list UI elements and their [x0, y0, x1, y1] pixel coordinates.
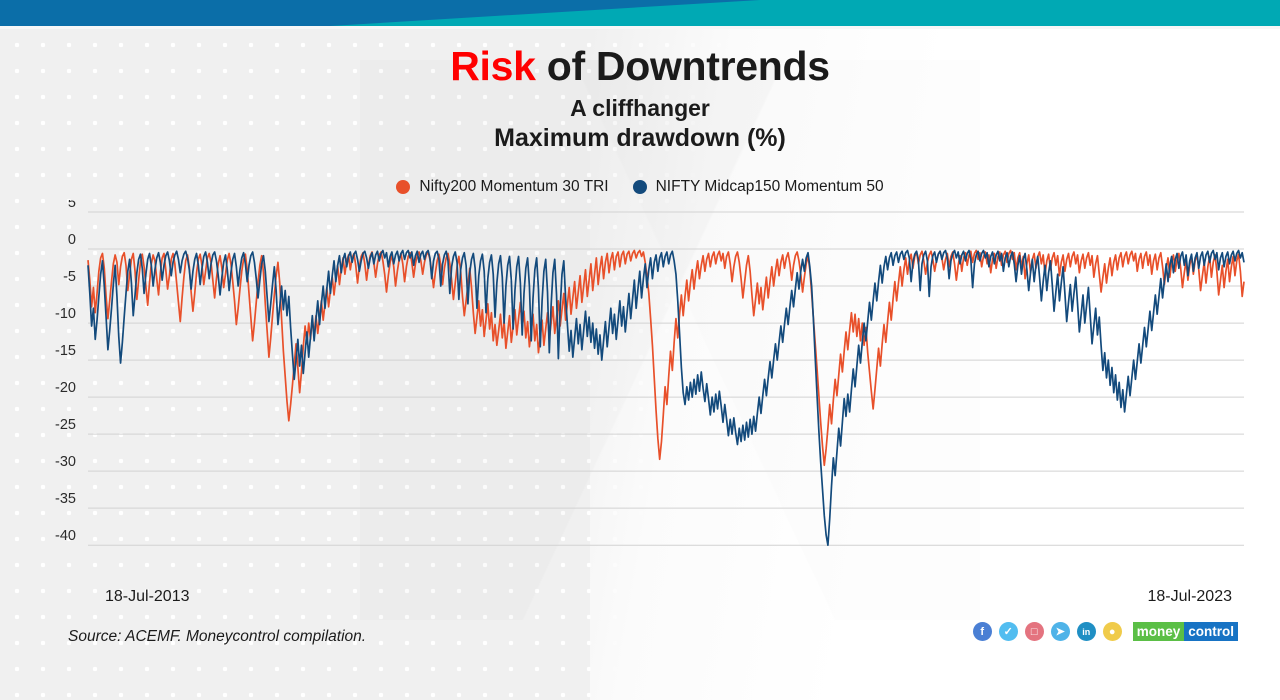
y-axis-tick-label: 5 [68, 200, 76, 211]
x-axis-end-label: 18-Jul-2023 [1148, 588, 1233, 606]
y-axis-tick-label: -25 [55, 417, 76, 433]
chart-legend: Nifty200 Momentum 30 TRI NIFTY Midcap150… [0, 178, 1280, 196]
page-subtitle: A cliffhanger [0, 95, 1280, 122]
chart-x-axis-labels: 18-Jul-2013 18-Jul-2023 [0, 588, 1280, 612]
heading-block: Risk of Downtrends A cliffhanger Maximum… [0, 44, 1280, 154]
y-axis-tick-label: -10 [55, 306, 76, 322]
y-axis-tick-label: -20 [55, 380, 76, 396]
legend-label-blue: NIFTY Midcap150 Momentum 50 [656, 178, 884, 196]
moneycontrol-logo[interactable]: money control [1133, 622, 1238, 641]
chart-y-axis-labels: 50-5-10-15-20-25-30-35-40 [55, 200, 76, 544]
chart-axis-title: Maximum drawdown (%) [0, 124, 1280, 154]
banner-navy-shape [0, 0, 760, 26]
banner-bottom-line [0, 26, 1280, 29]
y-axis-tick-label: -40 [55, 528, 76, 544]
series-line-orange [88, 251, 1244, 466]
legend-item-orange[interactable]: Nifty200 Momentum 30 TRI [396, 178, 608, 196]
twitter-icon[interactable]: ✓ [999, 622, 1018, 641]
logo-control-text: control [1184, 622, 1238, 641]
telegram-icon[interactable]: ➤ [1051, 622, 1070, 641]
page-title: Risk of Downtrends [0, 44, 1280, 88]
source-note: Source: ACEMF. Moneycontrol compilation. [68, 628, 366, 646]
facebook-icon[interactable]: f [973, 622, 992, 641]
y-axis-tick-label: -35 [55, 491, 76, 507]
y-axis-tick-label: -30 [55, 454, 76, 470]
chart-series-group [88, 251, 1244, 546]
social-icon-row: f✓□➤in● [973, 622, 1122, 641]
logo-money-text: money [1133, 622, 1185, 641]
brand-footer: f✓□➤in● money control [973, 622, 1238, 641]
x-axis-start-label: 18-Jul-2013 [105, 588, 190, 606]
y-axis-tick-label: -15 [55, 343, 76, 359]
legend-item-blue[interactable]: NIFTY Midcap150 Momentum 50 [633, 178, 884, 196]
top-banner [0, 0, 1280, 30]
chart-area: 50-5-10-15-20-25-30-35-40 [0, 200, 1280, 580]
y-axis-tick-label: 0 [68, 232, 76, 248]
instagram-icon[interactable]: □ [1025, 622, 1044, 641]
linkedin-icon[interactable]: in [1077, 622, 1096, 641]
legend-label-orange: Nifty200 Momentum 30 TRI [419, 178, 608, 196]
snapchat-icon[interactable]: ● [1103, 622, 1122, 641]
circle-dot-icon [396, 180, 410, 194]
circle-dot-icon [633, 180, 647, 194]
title-rest: of Downtrends [536, 43, 830, 89]
title-accent-word: Risk [450, 43, 535, 89]
y-axis-tick-label: -5 [63, 269, 76, 285]
drawdown-line-chart[interactable]: 50-5-10-15-20-25-30-35-40 [0, 200, 1280, 580]
